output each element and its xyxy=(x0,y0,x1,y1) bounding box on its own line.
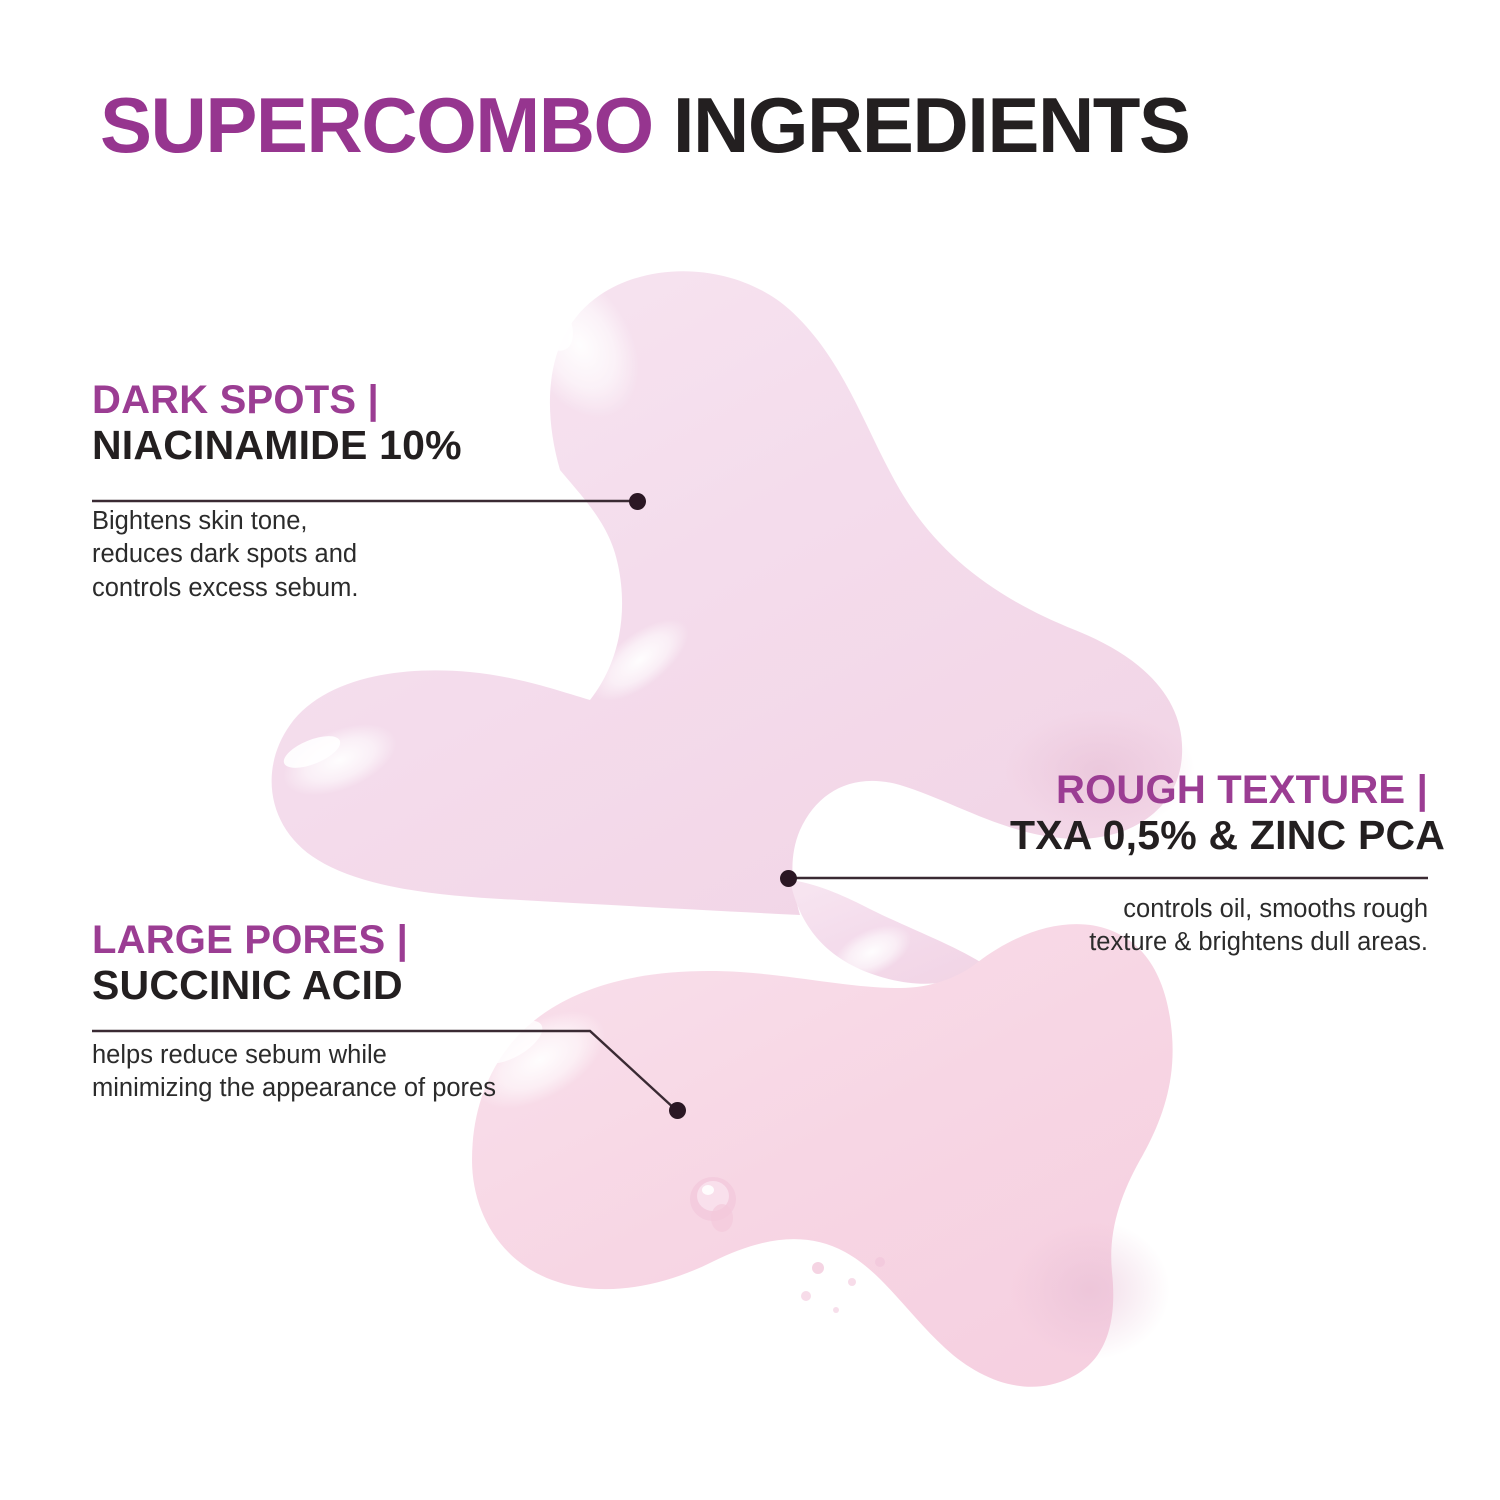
title-space xyxy=(653,81,673,169)
callout-rough-texture-kicker: ROUGH TEXTURE | xyxy=(1010,768,1428,813)
title-word: INGREDIENTS xyxy=(673,81,1190,169)
callout-large-pores-description: helps reduce sebum while minimizing the … xyxy=(92,1039,496,1106)
callout-rough-texture: ROUGH TEXTURE | TXA 0,5% & ZINC PCA cont… xyxy=(1010,768,1428,960)
bubble-small-5 xyxy=(833,1307,839,1313)
page-title: SUPERCOMBO INGREDIENTS xyxy=(100,86,1430,164)
leader-dot-large-pores xyxy=(669,1102,686,1119)
blob-highlight-neck xyxy=(825,914,920,989)
blob-highlight-inner-curve xyxy=(578,604,701,716)
callout-dark-spots-kicker: DARK SPOTS | xyxy=(92,378,462,423)
blob-highlight-top xyxy=(497,252,662,439)
blob-highlight-left-arm-small xyxy=(280,730,345,775)
bubble-small-1 xyxy=(812,1262,824,1274)
blob-highlight-upper-small xyxy=(513,277,584,359)
leader-dot-rough-texture xyxy=(780,870,797,887)
bubble-small-3 xyxy=(848,1278,856,1286)
bubble-small-2 xyxy=(875,1257,885,1267)
blob-lower-shape xyxy=(472,924,1173,1387)
bubble-small-4 xyxy=(801,1291,811,1301)
title-brand: SUPERCOMBO xyxy=(100,81,653,169)
callout-large-pores: LARGE PORES | SUCCINIC ACID helps reduce… xyxy=(92,918,496,1106)
callout-dark-spots-description: Bightens skin tone, reduces dark spots a… xyxy=(92,505,462,606)
callout-large-pores-ingredient: SUCCINIC ACID xyxy=(92,963,496,1009)
ingredient-infographic: SUPERCOMBO INGREDIENTS xyxy=(0,0,1500,1500)
callout-dark-spots: DARK SPOTS | NIACINAMIDE 10% Bightens sk… xyxy=(92,378,462,606)
pink-serum-droplet-illustration xyxy=(0,0,1500,1500)
callout-rough-texture-ingredient: TXA 0,5% & ZINC PCA xyxy=(1010,813,1428,859)
callout-rough-texture-description: controls oil, smooths rough texture & br… xyxy=(1010,893,1428,960)
bubble-large xyxy=(690,1177,736,1232)
blob-highlight-left-arm xyxy=(273,710,407,811)
blob-shadow-lower-right xyxy=(1010,1220,1170,1360)
callout-large-pores-kicker: LARGE PORES | xyxy=(92,918,496,963)
blob-connector-shape xyxy=(790,880,985,984)
leader-dot-dark-spots xyxy=(629,493,646,510)
callout-dark-spots-ingredient: NIACINAMIDE 10% xyxy=(92,423,462,469)
